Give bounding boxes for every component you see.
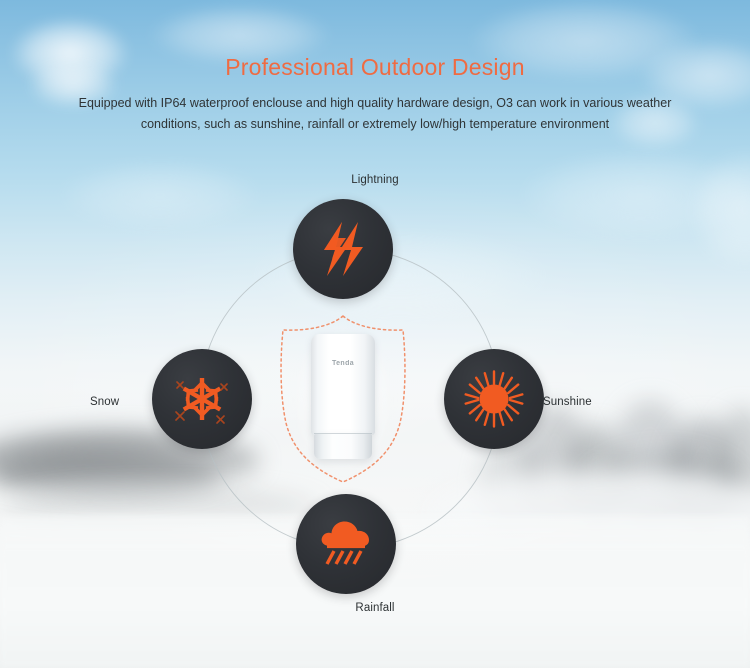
page-title: Professional Outdoor Design (0, 52, 750, 82)
node-rainfall[interactable] (296, 494, 396, 594)
outdoor-design-banner: Professional Outdoor Design Equipped wit… (0, 0, 750, 668)
snow-bubble[interactable] (152, 349, 252, 449)
device-body (311, 334, 375, 435)
lightning-bolt-icon (316, 220, 370, 278)
lightning-bubble[interactable] (293, 199, 393, 299)
node-lightning[interactable] (293, 199, 393, 299)
sunshine-bubble[interactable] (444, 349, 544, 449)
snowflake-icon (171, 368, 233, 430)
label-snow: Snow (90, 396, 119, 408)
label-sunshine: Sunshine (543, 396, 592, 408)
device-brand-logo: Tenda (311, 360, 375, 367)
label-lightning: Lightning (0, 174, 750, 186)
rainfall-bubble[interactable] (296, 494, 396, 594)
header-block: Professional Outdoor Design Equipped wit… (0, 52, 750, 135)
sun-icon (462, 367, 526, 431)
device-base (314, 434, 372, 459)
page-subtitle: Equipped with IP64 waterproof enclouse a… (55, 93, 695, 135)
node-snow[interactable] (152, 349, 252, 449)
node-sunshine[interactable] (444, 349, 544, 449)
label-rainfall: Rainfall (0, 602, 750, 614)
rain-cloud-icon (315, 515, 377, 573)
outdoor-access-point-device: Tenda (311, 334, 375, 459)
